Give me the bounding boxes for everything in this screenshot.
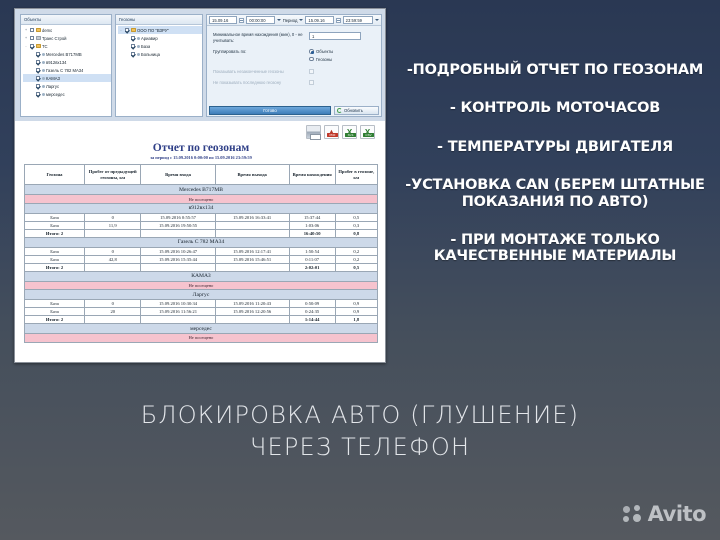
table-cell: Итого: 2	[25, 229, 85, 237]
time-from-value: 00:00:00	[249, 17, 265, 24]
table-cell: 0,9	[335, 300, 377, 308]
table-row: База42,815.09.2016 15:35:4415.09.2016 15…	[25, 255, 378, 263]
checkbox-icon[interactable]	[36, 84, 41, 89]
geofence-report-table: ГеозонаПробег от предыдущей геозоны, кмВ…	[24, 164, 378, 343]
group-by-radio-group[interactable]: Объекты Геозоны	[309, 49, 333, 64]
calendar-to-icon[interactable]	[336, 18, 341, 23]
table-cell: 0,3	[335, 221, 377, 229]
table-cell: Итого: 2	[25, 316, 85, 324]
geofence-tree-item[interactable]: -ООО ПО "ВЗРУ"	[118, 26, 202, 34]
excel-csv-export-icon[interactable]: X CSV	[360, 125, 375, 139]
checkbox-icon[interactable]	[36, 92, 41, 97]
time-from-field[interactable]: 00:00:00	[246, 16, 274, 24]
table-cell: База	[25, 255, 85, 263]
embedded-screenshot: Объекты +demo+Транс Строй-ТСMercedes B71…	[14, 8, 386, 363]
table-cell: 15.09.2016 0:55:57	[141, 213, 215, 221]
table-header-row: ГеозонаПробег от предыдущей геозоны, кмВ…	[25, 165, 378, 185]
min-stay-value: 1	[312, 34, 314, 39]
table-cell: 42,8	[85, 255, 141, 263]
object-tree-item-label: в912вх134	[46, 60, 67, 65]
pdf-export-icon[interactable]: ▲ PDF	[324, 125, 339, 139]
object-tree-item-label: demo	[42, 28, 52, 33]
report-config-area: Объекты +demo+Транс Строй-ТСMercedes B71…	[15, 9, 386, 121]
geofence-tree-item-label: ООО ПО "ВЗРУ"	[137, 28, 169, 33]
table-group-row: Ларгус	[25, 290, 378, 300]
table-group-row: КАМАЗ	[25, 271, 378, 281]
vehicle-icon	[42, 77, 45, 80]
table-group-row: в912вх134	[25, 203, 378, 213]
table-cell: 16:40:50	[289, 229, 335, 237]
table-column-header: Геозона	[25, 165, 85, 185]
vehicle-icon	[42, 53, 45, 56]
table-row: База11,915.09.2016 19:50:551:03:060,3	[25, 221, 378, 229]
table-cell	[141, 263, 215, 271]
avito-watermark-text: Avito	[648, 502, 706, 526]
table-cell: 0,2	[335, 255, 377, 263]
object-tree-item-label: Ларгус	[46, 84, 59, 89]
feature-bullet: - КОНТРОЛЬ МОТОЧАСОВ	[396, 100, 714, 116]
zone-icon	[137, 45, 140, 48]
object-tree-item[interactable]: в912вх134	[23, 58, 111, 66]
radio-geofences-dot	[309, 57, 314, 62]
table-cell: 15.09.2016 11:56:21	[141, 308, 215, 316]
table-cell: 0:50:09	[289, 300, 335, 308]
calendar-icon[interactable]	[239, 18, 244, 23]
geofence-tree-item[interactable]: Больница	[118, 50, 202, 58]
chevron-down-icon[interactable]	[277, 19, 281, 21]
table-column-header: Пробег от предыдущей геозоны, км	[85, 165, 141, 185]
table-cell: 11,9	[85, 221, 141, 229]
date-to-field[interactable]: 15.09.16	[305, 16, 333, 24]
period-label: Период	[283, 18, 298, 23]
table-total-row: Итого: 216:40:500,8	[25, 229, 378, 237]
avito-logo-icon	[623, 505, 643, 523]
object-tree-item-label: КАМАЗ	[46, 76, 60, 81]
radio-objects-label: Объекты	[316, 49, 333, 54]
object-tree-item-label: Газель С 782 МА34	[46, 68, 83, 73]
table-row: База015.09.2016 10:30:3415.09.2016 11:20…	[25, 300, 378, 308]
time-to-field[interactable]: 23:59:59	[343, 16, 373, 24]
table-group-label: в912вх134	[25, 203, 378, 213]
feature-bullet: - ТЕМПЕРАТУРЫ ДВИГАТЕЛЯ	[396, 139, 714, 155]
object-tree-item-label: Транс Строй	[42, 36, 67, 41]
caption-line-1: БЛОКИРОВКА АВТО (ГЛУШЕНИЕ)	[0, 400, 720, 432]
checkbox-icon[interactable]	[36, 68, 41, 73]
table-group-label: мерседес	[25, 324, 378, 334]
table-group-label: КАМАЗ	[25, 271, 378, 281]
object-tree-item[interactable]: +demo	[23, 26, 111, 34]
time-to-value: 23:59:59	[346, 17, 362, 24]
expand-icon[interactable]: +	[24, 28, 28, 32]
table-cell	[141, 316, 215, 324]
table-cell: База	[25, 221, 85, 229]
collapse-icon[interactable]: -	[24, 44, 28, 48]
object-tree-item[interactable]: Mercedes B717MB	[23, 50, 111, 58]
table-row: База015.09.2016 0:55:5715.09.2016 16:33:…	[25, 213, 378, 221]
table-not-visited-label: Не посещено	[25, 281, 378, 289]
geofence-tree-item[interactable]: Ариавир	[118, 34, 202, 42]
report-title: Отчет по геозонам	[15, 142, 386, 154]
show-unfinished-checkbox	[309, 69, 314, 74]
folder-icon	[36, 28, 41, 32]
checkbox-icon[interactable]	[125, 28, 130, 33]
object-tree-item[interactable]: -ТС	[23, 42, 111, 50]
table-not-visited-row: Не посещено	[25, 334, 378, 342]
date-from-value: 15.09.16	[212, 17, 228, 24]
checkbox-icon[interactable]	[131, 44, 136, 49]
show-unfinished-label: Показывать незаконченные геозоны	[213, 69, 309, 75]
table-not-visited-row: Не посещено	[25, 195, 378, 203]
excel-export-icon[interactable]: X XLS	[342, 125, 357, 139]
table-cell	[215, 316, 289, 324]
min-stay-stepper[interactable]: 1	[309, 32, 361, 40]
time-to-chevron-down-icon[interactable]	[375, 19, 379, 21]
print-icon[interactable]	[306, 125, 321, 139]
table-cell: 1:03:06	[289, 221, 335, 229]
refresh-icon	[337, 108, 342, 113]
table-group-row: Газель С 782 МА34	[25, 237, 378, 247]
table-cell: 15:37:44	[289, 213, 335, 221]
date-from-field[interactable]: 15.09.16	[209, 16, 237, 24]
table-cell	[215, 263, 289, 271]
objects-panel[interactable]: Объекты +demo+Транс Строй-ТСMercedes B71…	[20, 14, 112, 117]
table-cell: Итого: 2	[25, 263, 85, 271]
vehicle-icon	[42, 85, 45, 88]
table-cell: 15.09.2016 12:20:56	[215, 308, 289, 316]
table-cell: База	[25, 300, 85, 308]
table-total-row: Итого: 22:02:010,5	[25, 263, 378, 271]
zone-icon	[137, 53, 140, 56]
folder-icon	[131, 28, 136, 32]
done-button[interactable]: Готово	[209, 106, 331, 115]
table-cell: 15.09.2016 10:26:47	[141, 247, 215, 255]
table-cell	[215, 221, 289, 229]
table-column-header: Время входа	[141, 165, 215, 185]
table-group-label: Mercedes B717MB	[25, 185, 378, 195]
hide-last-checkbox	[309, 80, 314, 85]
vehicle-icon	[42, 69, 45, 72]
table-group-label: Газель С 782 МА34	[25, 237, 378, 247]
group-by-row: Группировать по: Объекты Геозоны	[213, 49, 375, 64]
geofences-tree[interactable]: -ООО ПО "ВЗРУ"АриавирБазаБольница	[116, 25, 202, 58]
geofence-tree-item-label: Больница	[141, 52, 160, 57]
table-cell: 15.09.2016 15:35:44	[141, 255, 215, 263]
table-cell: 1:14:44	[289, 316, 335, 324]
table-cell: 0:24:35	[289, 308, 335, 316]
table-row: База2015.09.2016 11:56:2115.09.2016 12:2…	[25, 308, 378, 316]
table-cell: 0,5	[335, 263, 377, 271]
table-cell: 0	[85, 247, 141, 255]
report-subtitle: за период с 15.09.2016 0:00:00 по 15.09.…	[15, 155, 386, 160]
geofence-tree-item-label: Ариавир	[141, 36, 158, 41]
radio-geofences[interactable]: Геозоны	[309, 57, 333, 62]
table-cell: 20	[85, 308, 141, 316]
table-cell: 1:50:54	[289, 247, 335, 255]
radio-objects[interactable]: Объекты	[309, 49, 333, 54]
geofences-panel[interactable]: Геозоны -ООО ПО "ВЗРУ"АриавирБазаБольниц…	[115, 14, 203, 117]
table-group-row: мерседес	[25, 324, 378, 334]
radio-geofences-label: Геозоны	[316, 57, 332, 62]
table-not-visited-label: Не посещено	[25, 334, 378, 342]
checkbox-icon[interactable]	[30, 28, 35, 33]
object-tree-item[interactable]: Газель С 782 МА34	[23, 66, 111, 74]
checkbox-icon[interactable]	[36, 76, 41, 81]
table-cell: 0,5	[335, 213, 377, 221]
table-cell	[85, 263, 141, 271]
object-tree-item[interactable]: +Транс Строй	[23, 34, 111, 42]
group-by-label: Группировать по:	[213, 49, 309, 55]
checkbox-icon[interactable]	[36, 52, 41, 57]
table-cell	[141, 229, 215, 237]
hide-last-row: Не показывать последнюю геозону	[213, 80, 375, 86]
table-cell: 15.09.2016 16:33:41	[215, 213, 289, 221]
table-cell: 0	[85, 300, 141, 308]
table-cell: 0,8	[335, 229, 377, 237]
date-range-toolbar[interactable]: 15.09.16 00:00:00 Период 15.09.16 23:59:…	[207, 15, 381, 26]
table-cell: База	[25, 247, 85, 255]
zone-icon	[137, 37, 140, 40]
settings-body: Минимальное время нахождения (мин), 0 - …	[207, 26, 381, 86]
avito-watermark: Avito	[623, 502, 706, 526]
checkbox-icon[interactable]	[131, 36, 136, 41]
table-cell: 0,9	[335, 308, 377, 316]
feature-bullet: -УСТАНОВКА CAN (БЕРЕМ ШТАТНЫЕ ПОКАЗАНИЯ …	[396, 177, 714, 210]
objects-panel-header: Объекты	[21, 15, 111, 25]
checkbox-icon[interactable]	[30, 36, 35, 41]
hide-last-label: Не показывать последнюю геозону	[213, 80, 309, 86]
object-tree-item-label: мерседес	[46, 92, 65, 97]
table-cell: База	[25, 308, 85, 316]
table-cell: 15.09.2016 12:17:41	[215, 247, 289, 255]
table-cell: 1,8	[335, 316, 377, 324]
table-cell: 0,2	[335, 247, 377, 255]
table-cell: 0	[85, 213, 141, 221]
expand-icon[interactable]: +	[24, 36, 28, 40]
object-tree-item-label: Mercedes B717MB	[46, 52, 82, 57]
table-group-label: Ларгус	[25, 290, 378, 300]
checkbox-icon[interactable]	[30, 44, 35, 49]
caption-line-2: ЧЕРЕЗ ТЕЛЕФОН	[0, 432, 720, 464]
table-cell	[215, 229, 289, 237]
refresh-button-label: Обновить	[344, 107, 363, 115]
table-total-row: Итого: 21:14:441,8	[25, 316, 378, 324]
table-cell: 15.09.2016 15:46:51	[215, 255, 289, 263]
geofences-panel-header: Геозоны	[116, 15, 202, 25]
report-area: ▲ PDF X XLS X CSV Отчет по геозонам за п…	[15, 121, 386, 363]
settings-button-row: Готово Обновить	[207, 105, 381, 116]
objects-tree[interactable]: +demo+Транс Строй-ТСMercedes B717MBв912в…	[21, 25, 111, 98]
radio-objects-dot	[309, 49, 314, 54]
table-cell	[85, 316, 141, 324]
show-unfinished-row: Показывать незаконченные геозоны	[213, 69, 375, 75]
period-chevron-down-icon[interactable]	[299, 19, 303, 21]
table-not-visited-label: Не посещено	[25, 195, 378, 203]
feature-bullet: - ПРИ МОНТАЖЕ ТОЛЬКО КАЧЕСТВЕННЫЕ МАТЕРИ…	[396, 232, 714, 265]
object-tree-item[interactable]: Ларгус	[23, 82, 111, 90]
min-stay-label: Минимальное время нахождения (мин), 0 - …	[213, 32, 309, 44]
table-cell: 2:02:01	[289, 263, 335, 271]
table-cell: 15.09.2016 10:30:34	[141, 300, 215, 308]
table-cell	[85, 229, 141, 237]
table-cell: 15.09.2016 19:50:55	[141, 221, 215, 229]
table-column-header: Время нахождения	[289, 165, 335, 185]
table-not-visited-row: Не посещено	[25, 281, 378, 289]
refresh-button[interactable]: Обновить	[334, 106, 379, 115]
table-column-header: Время выхода	[215, 165, 289, 185]
folder-gray-icon	[36, 36, 41, 40]
object-tree-item[interactable]: КАМАЗ	[23, 74, 111, 82]
vehicle-icon	[42, 93, 45, 96]
feature-bullet-list: -ПОДРОБНЫЙ ОТЧЕТ ПО ГЕОЗОНАМ- КОНТРОЛЬ М…	[396, 62, 714, 265]
report-settings-panel[interactable]: 15.09.16 00:00:00 Период 15.09.16 23:59:…	[206, 14, 382, 117]
date-to-value: 15.09.16	[308, 17, 324, 24]
min-stay-row: Минимальное время нахождения (мин), 0 - …	[213, 32, 375, 44]
checkbox-icon[interactable]	[36, 60, 41, 65]
object-tree-item[interactable]: мерседес	[23, 90, 111, 98]
table-row: База015.09.2016 10:26:4715.09.2016 12:17…	[25, 247, 378, 255]
checkbox-icon[interactable]	[131, 52, 136, 57]
table-cell: 0:11:07	[289, 255, 335, 263]
feature-bullet: -ПОДРОБНЫЙ ОТЧЕТ ПО ГЕОЗОНАМ	[396, 62, 714, 78]
folder-icon	[36, 44, 41, 48]
object-tree-item-label: ТС	[42, 44, 48, 49]
vehicle-icon	[42, 61, 45, 64]
headline-caption: БЛОКИРОВКА АВТО (ГЛУШЕНИЕ)ЧЕРЕЗ ТЕЛЕФОН	[0, 400, 720, 463]
geofence-tree-item-label: База	[141, 44, 150, 49]
collapse-icon[interactable]: -	[119, 28, 123, 32]
table-cell: База	[25, 213, 85, 221]
table-group-row: Mercedes B717MB	[25, 185, 378, 195]
table-column-header: Пробег в геозоне, км	[335, 165, 377, 185]
table-cell: 15.09.2016 11:20:43	[215, 300, 289, 308]
geofence-tree-item[interactable]: База	[118, 42, 202, 50]
report-export-toolbar[interactable]: ▲ PDF X XLS X CSV	[15, 121, 386, 139]
